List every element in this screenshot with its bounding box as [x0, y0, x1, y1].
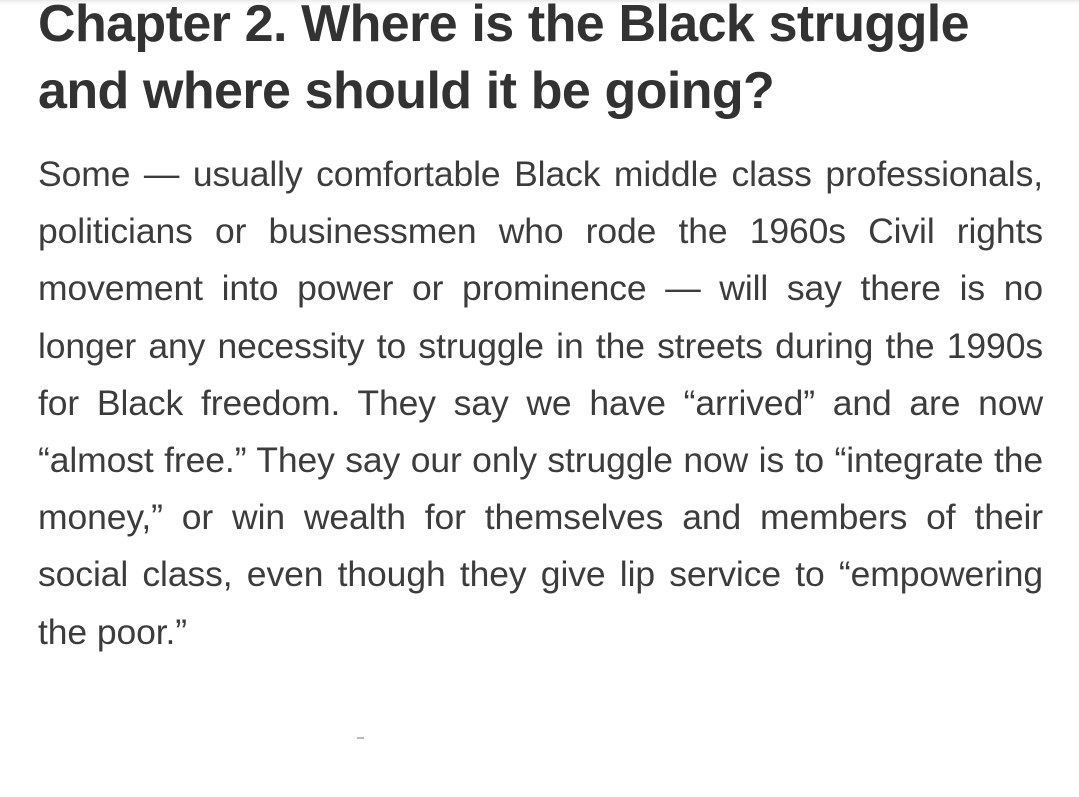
page-artifact-mark	[357, 737, 364, 739]
chapter-body-paragraph: Some — usually comfortable Black middle …	[38, 146, 1043, 661]
chapter-heading: Chapter 2. Where is the Black struggle a…	[38, 0, 1043, 125]
reader-content-pane[interactable]: Chapter 2. Where is the Black struggle a…	[0, 0, 1079, 788]
